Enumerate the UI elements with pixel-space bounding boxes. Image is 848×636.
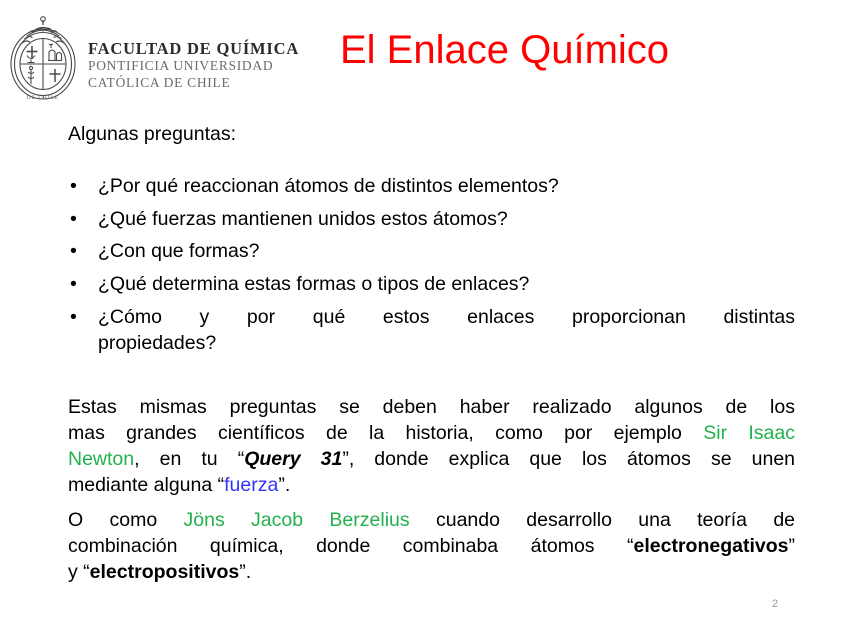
list-item: • ¿Qué fuerzas mantienen unidos estos át… [68,207,795,233]
question-text: ¿Con que formas? [98,240,260,262]
page-number: 2 [772,598,778,610]
paragraph-text: mas grandes científicos de la historia, … [68,422,703,444]
paragraph-text: Estas mismas preguntas se deben haber re… [68,396,795,418]
slide-title: El Enlace Químico [340,27,820,73]
quote-close: ” [789,535,796,557]
bullet-icon: • [70,305,77,331]
question-text: ¿Qué fuerzas mantienen unidos estos átom… [98,208,508,230]
paragraph-text: y [68,561,83,583]
bullet-icon: • [70,207,77,233]
term-electronegativos: electronegativos [634,535,789,557]
paragraph-line: combinación química, donde combinaba áto… [68,534,795,560]
logo-university-line-2: CATÓLICA DE CHILE [88,75,299,92]
paragraph-berzelius: O como Jöns Jacob Berzelius cuando desar… [68,508,795,586]
list-item: • ¿Qué determina estas formas o tipos de… [68,272,795,298]
intro-text: Algunas preguntas: [68,122,236,147]
term-fuerza: fuerza [224,474,278,496]
work-title-query-31: Query 31 [244,448,342,470]
logo-university-line-1: PONTIFICIA UNIVERSIDAD [88,58,299,75]
paragraph-line: mas grandes científicos de la historia, … [68,421,795,447]
paragraph-text: cuando desarrollo una teoría de [410,509,795,531]
slide: DE CHILE FACULTAD DE QUÍMICA PONTIFICIA … [0,0,848,636]
paragraph-text: O como [68,509,184,531]
paragraph-line: Estas mismas preguntas se deben haber re… [68,395,795,421]
svg-text:DE CHILE: DE CHILE [27,95,59,101]
paragraph-text: , en tu [134,448,238,470]
paragraph-text: . [285,474,290,496]
logo-faculty-line: FACULTAD DE QUÍMICA [88,39,299,58]
paragraph-newton: Estas mismas preguntas se deben haber re… [68,395,795,499]
paragraph-text: . [246,561,251,583]
questions-list: • ¿Por qué reaccionan átomos de distinto… [68,174,795,363]
name-newton: Newton [68,448,134,470]
paragraph-line: y “electropositivos”. [68,560,795,586]
list-item: • ¿Cómo y por qué estos enlaces proporci… [68,305,795,356]
slide-header: DE CHILE FACULTAD DE QUÍMICA PONTIFICIA … [0,0,848,115]
question-text-line-1: ¿Cómo y por qué estos enlaces proporcion… [98,305,795,331]
paragraph-text: combinación química, donde combinaba áto… [68,535,627,557]
question-text: ¿Por qué reaccionan átomos de distintos … [98,175,559,197]
paragraph-text: , donde explica que los átomos se unen [349,448,795,470]
name-sir-isaac: Sir Isaac [703,422,795,444]
paragraph-line: O como Jöns Jacob Berzelius cuando desar… [68,508,795,534]
term-electropositivos: electropositivos [90,561,240,583]
paragraph-line: Newton, en tu “Query 31”, donde explica … [68,447,795,473]
list-item: • ¿Con que formas? [68,239,795,265]
bullet-icon: • [70,272,77,298]
paragraph-text: mediante alguna [68,474,218,496]
paragraph-line: mediante alguna “fuerza”. [68,473,795,499]
paragraphs-block: Estas mismas preguntas se deben haber re… [68,395,795,594]
list-item: • ¿Por qué reaccionan átomos de distinto… [68,174,795,200]
logo-wordmark: FACULTAD DE QUÍMICA PONTIFICIA UNIVERSID… [88,12,299,92]
question-text-line-2: propiedades? [98,331,795,357]
university-crest-icon: DE CHILE [6,12,80,104]
question-text: ¿Qué determina estas formas o tipos de e… [98,273,529,295]
institution-logo: DE CHILE FACULTAD DE QUÍMICA PONTIFICIA … [6,12,299,104]
bullet-icon: • [70,239,77,265]
name-berzelius: Jöns Jacob Berzelius [184,509,410,531]
bullet-icon: • [70,174,77,200]
